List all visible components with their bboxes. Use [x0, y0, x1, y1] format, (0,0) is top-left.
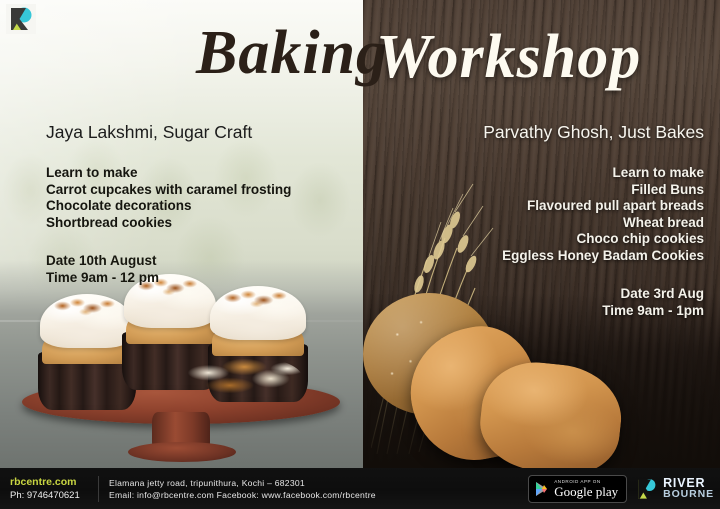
left-list-item-2: Shortbread cookies — [46, 215, 346, 232]
poster-title-workshop: Workshop — [376, 26, 641, 88]
left-panel-copy: Jaya Lakshmi, Sugar Craft Learn to make … — [46, 122, 346, 286]
right-list-heading: Learn to make — [404, 165, 704, 182]
left-list-heading: Learn to make — [46, 165, 346, 182]
footer-phone: Ph: 9746470621 — [10, 489, 98, 502]
right-list-item-1: Flavoured pull apart breads — [404, 198, 704, 215]
footer-badges: ANDROID APP ON Google play RIVER BOURNE — [528, 475, 720, 503]
right-date: Date 3rd Aug — [404, 286, 704, 303]
footer-bar: rbcentre.com Ph: 9746470621 Elamana jett… — [0, 468, 720, 509]
riverbourne-r-icon — [635, 477, 659, 501]
cake-stand-foot — [128, 442, 236, 462]
footer-contact-line[interactable]: Email: info@rbcentre.com Facebook: www.f… — [109, 489, 528, 501]
right-list-item-2: Wheat bread — [404, 215, 704, 232]
cupcake-frosting — [210, 286, 306, 340]
google-play-badge[interactable]: ANDROID APP ON Google play — [528, 475, 627, 503]
riverbourne-logo[interactable]: RIVER BOURNE — [635, 477, 714, 501]
left-time: Time 9am - 12 pm — [46, 270, 346, 287]
footer-divider — [98, 476, 99, 502]
left-course-list: Learn to make Carrot cupcakes with caram… — [46, 165, 346, 231]
baking-workshop-poster: Jaya Lakshmi, Sugar Craft Learn to make … — [0, 0, 720, 509]
google-play-triangle-icon — [535, 481, 549, 497]
google-play-label-main: Google play — [554, 485, 618, 499]
right-list-item-4: Eggless Honey Badam Cookies — [404, 248, 704, 265]
right-course-list: Learn to make Filled Buns Flavoured pull… — [404, 165, 704, 264]
left-date-time: Date 10th August Time 9am - 12 pm — [46, 253, 346, 286]
caramel-crumbs — [182, 356, 302, 398]
cupcakes-on-cake-stand-photo — [0, 260, 363, 468]
footer-address-line: Elamana jetty road, tripunithura, Kochi … — [109, 477, 528, 489]
footer-website-link[interactable]: rbcentre.com — [10, 476, 98, 489]
right-list-item-3: Choco chip cookies — [404, 231, 704, 248]
footer-brand-block: rbcentre.com Ph: 9746470621 — [0, 476, 98, 502]
left-presenter-name: Jaya Lakshmi, Sugar Craft — [46, 122, 346, 143]
footer-address-block: Elamana jetty road, tripunithura, Kochi … — [109, 477, 528, 501]
cupcake-topping — [223, 288, 292, 310]
riverbourne-line-2: BOURNE — [663, 489, 714, 500]
poster-title-baking: Baking — [196, 22, 388, 84]
right-presenter-name: Parvathy Ghosh, Just Bakes — [404, 122, 704, 143]
right-date-time: Date 3rd Aug Time 9am - 1pm — [404, 286, 704, 319]
right-list-item-0: Filled Buns — [404, 182, 704, 199]
rb-centre-logo-icon — [6, 4, 36, 34]
right-panel-copy: Parvathy Ghosh, Just Bakes Learn to make… — [404, 122, 704, 319]
cupcake-frosting — [40, 294, 134, 348]
riverbourne-wordmark: RIVER BOURNE — [663, 477, 714, 500]
left-date: Date 10th August — [46, 253, 346, 270]
right-time: Time 9am - 1pm — [404, 303, 704, 320]
cupcake-topping — [53, 296, 121, 318]
left-list-item-0: Carrot cupcakes with caramel frosting — [46, 182, 346, 199]
breads-and-wheat-photo — [363, 293, 720, 468]
left-list-item-1: Chocolate decorations — [46, 198, 346, 215]
